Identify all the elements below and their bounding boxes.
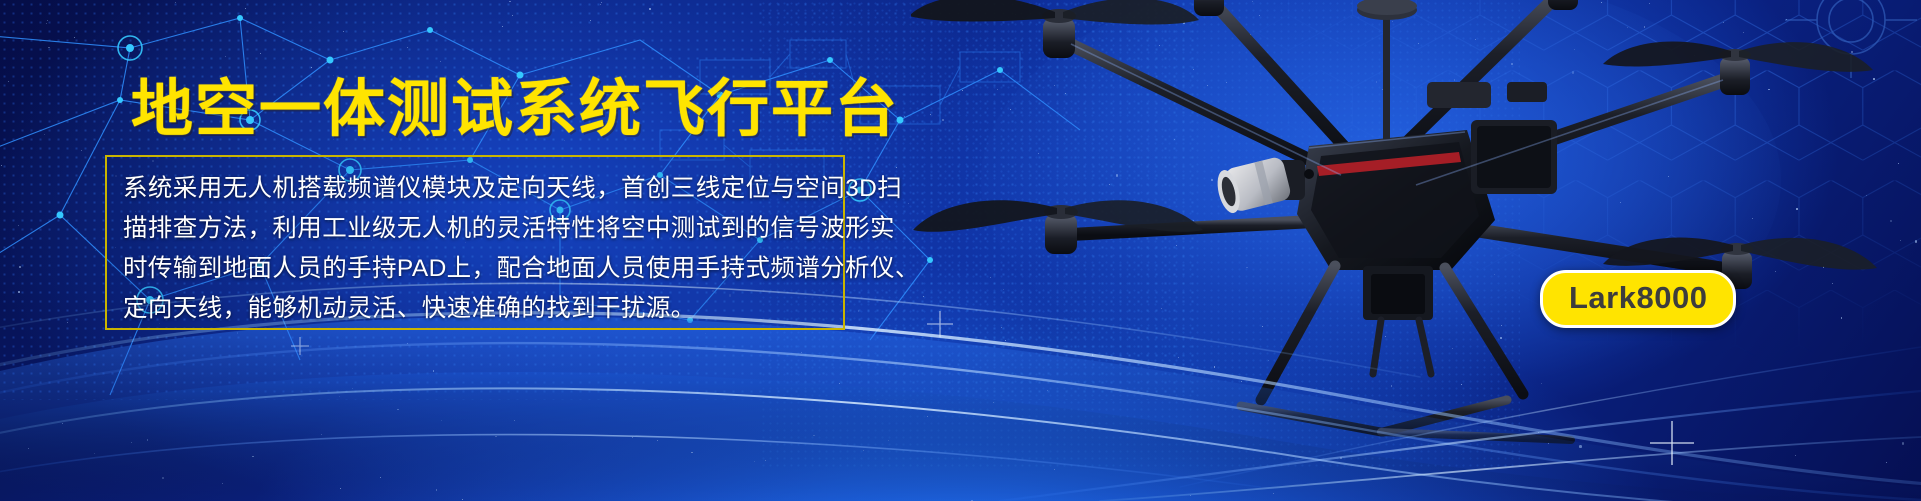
description-box: 系统采用无人机搭载频谱仪模块及定向天线，首创三线定位与空间3D扫 描排查方法，利… <box>105 155 845 330</box>
description-line: 系统采用无人机搭载频谱仪模块及定向天线，首创三线定位与空间3D扫 <box>123 169 827 209</box>
product-model-badge: Lark8000 <box>1540 270 1736 328</box>
hexagon-grid <box>1161 0 1921 380</box>
description-line: 时传输到地面人员的手持PAD上，配合地面人员使用手持式频谱分析仪、 <box>123 249 827 289</box>
page-title: 地空一体测试系统飞行平台 <box>131 79 899 141</box>
product-banner: 地空一体测试系统飞行平台 系统采用无人机搭载频谱仪模块及定向天线，首创三线定位与… <box>0 0 1921 501</box>
drone-product-image <box>911 0 1921 450</box>
description-line: 定向天线，能够机动灵活、快速准确的找到干扰源。 <box>123 289 827 329</box>
description-line: 描排查方法，利用工业级无人机的灵活特性将空中测试到的信号波形实 <box>123 209 827 249</box>
